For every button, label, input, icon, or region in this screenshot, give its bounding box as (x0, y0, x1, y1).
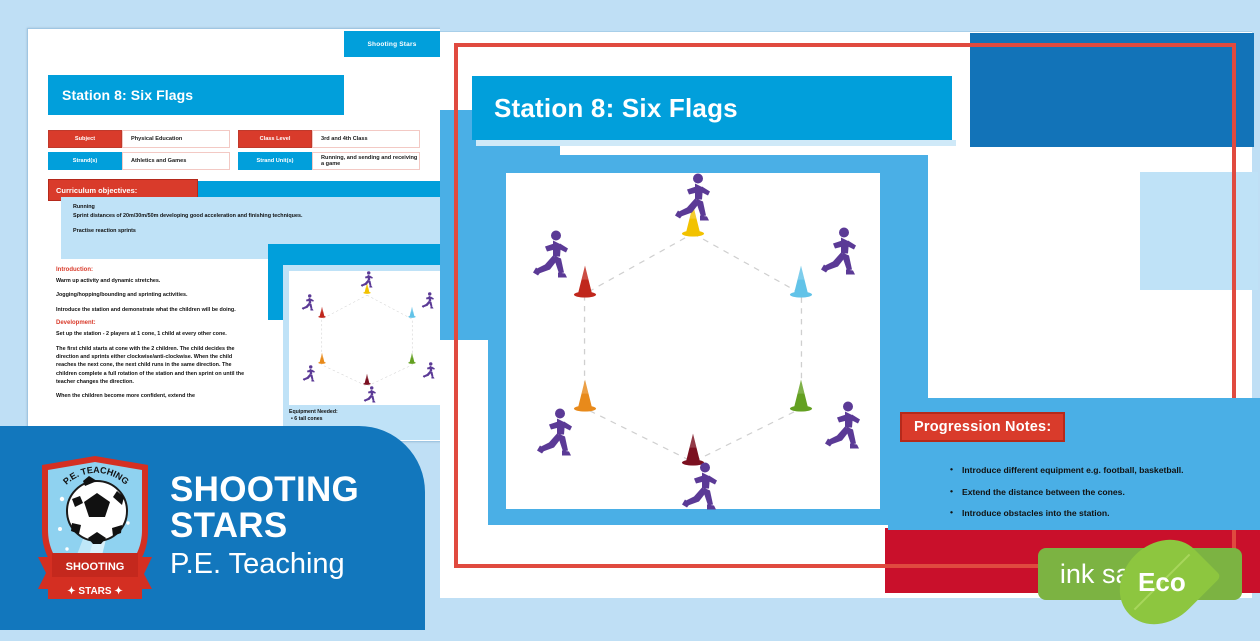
meta-value-label: Athletics and Games (131, 158, 186, 164)
eco-badge-label: Eco (1138, 569, 1186, 595)
document-sheet[interactable]: Shooting Stars Station 8: Six Flags Subj… (27, 28, 440, 442)
progression-notes-heading-label: Progression Notes: (914, 419, 1051, 435)
section-heading-introduction: Introduction: (56, 267, 252, 273)
meta-value-label: Running, and sending and receiving a gam… (321, 155, 419, 167)
curriculum-objective-2: Practise reaction sprints (73, 227, 432, 235)
section-heading-development: Development: (56, 320, 252, 326)
screenshot-root: Shooting Stars Station 8: Six Flags Subj… (0, 0, 1260, 630)
meta-key-label: Strand(s) (73, 158, 98, 164)
cone-lower-right (788, 378, 814, 417)
runner-bottom (680, 460, 720, 517)
runner-lower-left (535, 407, 575, 464)
meta-key-strands: Strand(s) (48, 152, 122, 170)
runner-upper-right (819, 225, 859, 282)
equipment-needed-block: Equipment Needed: • 6 tall cones (289, 409, 440, 422)
document-meta-table: Subject Physical Education Class Level 3… (48, 130, 420, 174)
runner-lower-right (823, 400, 863, 457)
slide-preview-pane: Station 8: Six Flags Progression Notes: … (440, 0, 1260, 630)
slide-title-text: Station 8: Six Flags (472, 93, 738, 124)
meta-key-subject: Subject (48, 130, 122, 148)
meta-key-strand-units: Strand Unit(s) (238, 152, 312, 170)
meta-value-label: 3rd and 4th Class (321, 136, 368, 142)
slide-title-bar: Station 8: Six Flags (472, 76, 952, 140)
list-item: Introduce different equipment e.g. footb… (950, 466, 1260, 475)
equipment-needed-item: • 6 tall cones (291, 416, 440, 422)
document-preview-pane: Shooting Stars Station 8: Six Flags Subj… (0, 0, 440, 630)
table-row: Strand(s) Athletics and Games Strand Uni… (48, 152, 420, 170)
svg-text:SHOOTING: SHOOTING (66, 561, 125, 573)
list-item: Extend the distance between the cones. (950, 488, 1260, 497)
runner-upper-left (301, 293, 315, 316)
cone-lower-left (317, 351, 326, 369)
crest-ribbon: SHOOTING ✦ STARS ✦ (38, 553, 152, 599)
shooting-stars-crest-logo: P.E. TEACHING SHOOTING ✦ STARS ✦ (34, 453, 156, 603)
table-row: Subject Physical Education Class Level 3… (48, 130, 420, 148)
intro-paragraph-1: Warm up activity and dynamic stretches. (56, 277, 252, 285)
document-body-text: Introduction: Warm up activity and dynam… (56, 267, 252, 407)
intro-paragraph-2: Jogging/hopping/bounding and sprinting a… (56, 291, 252, 299)
document-title: Station 8: Six Flags (48, 87, 193, 103)
meta-value-strands: Athletics and Games (122, 152, 230, 170)
document-diagram-panel: Equipment Needed: • 6 tall cones (283, 265, 440, 440)
progression-notes-heading: Progression Notes: (900, 412, 1065, 442)
cone-upper-left (317, 305, 326, 323)
curriculum-objectives-heading-label: Curriculum objectives: (49, 186, 137, 195)
document-brand-tab-label: Shooting Stars (367, 41, 416, 48)
brand-line-1: SHOOTING (170, 472, 359, 508)
meta-key-class-level: Class Level (238, 130, 312, 148)
document-brand-tab: Shooting Stars (344, 31, 440, 57)
runner-bottom (363, 385, 377, 408)
meta-key-label: Class Level (260, 136, 291, 142)
brand-bar: P.E. TEACHING SHOOTING ✦ STARS ✦ SHOOTIN… (0, 426, 425, 630)
runner-top (673, 171, 713, 228)
brand-tagline: P.E. Teaching (170, 546, 359, 584)
curriculum-objective-1: Sprint distances of 20m/30m/50m developi… (73, 212, 432, 220)
meta-value-class-level: 3rd and 4th Class (312, 130, 420, 148)
runner-upper-left (531, 229, 571, 286)
cone-upper-left (572, 264, 598, 303)
list-item: Introduce obstacles into the station. (950, 509, 1260, 518)
meta-key-label: Subject (75, 136, 95, 142)
runner-lower-right (422, 361, 436, 384)
meta-value-strand-units: Running, and sending and receiving a gam… (312, 152, 420, 170)
development-paragraph-3: When the children become more confident,… (56, 392, 252, 400)
cone-upper-right (788, 264, 814, 303)
ink-saving-eco-badge: ink saving Eco (1038, 548, 1242, 600)
station-diagram-frame (488, 155, 928, 525)
svg-text:✦ STARS ✦: ✦ STARS ✦ (67, 586, 122, 597)
curriculum-subheading: Running (73, 204, 432, 210)
cone-lower-left (572, 378, 598, 417)
meta-value-subject: Physical Education (122, 130, 230, 148)
slide-title-shadow (476, 140, 956, 146)
brand-line-2: STARS (170, 508, 359, 544)
progression-notes-card: Progression Notes: Introduce different e… (888, 398, 1260, 530)
station-diagram[interactable] (506, 173, 880, 509)
document-diagram-thumbnail (289, 271, 440, 405)
runner-upper-right (421, 292, 435, 315)
cone-lower-right (408, 351, 417, 369)
intro-paragraph-3: Introduce the station and demonstrate wh… (56, 306, 252, 314)
runner-top (360, 270, 374, 293)
runner-lower-left (302, 364, 316, 387)
progression-notes-list: Introduce different equipment e.g. footb… (910, 466, 1260, 531)
document-title-bar: Station 8: Six Flags (48, 75, 344, 115)
meta-key-label: Strand Unit(s) (257, 158, 294, 164)
equipment-needed-heading: Equipment Needed: (289, 409, 440, 415)
brand-wordmark: SHOOTING STARS P.E. Teaching (170, 472, 359, 583)
equipment-item-label: 6 tall cones (294, 416, 322, 422)
meta-value-label: Physical Education (131, 136, 182, 142)
development-paragraph-1: Set up the station - 2 players at 1 cone… (56, 330, 252, 338)
development-paragraph-2: The first child starts at cone with the … (56, 345, 252, 387)
cone-upper-right (408, 305, 417, 323)
